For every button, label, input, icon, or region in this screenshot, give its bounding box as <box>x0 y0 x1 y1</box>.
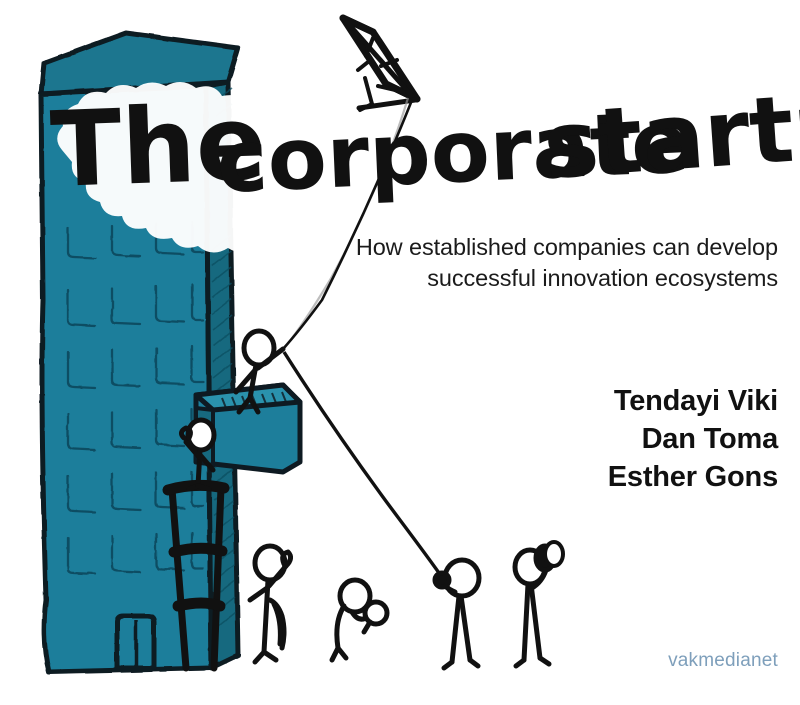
author-list: Tendayi Viki Dan Toma Esther Gons <box>420 382 778 496</box>
kite-reel <box>435 573 449 587</box>
binoculars-figure <box>515 542 563 666</box>
binoculars-icon <box>536 542 563 570</box>
book-subtitle: How established companies can develop su… <box>250 232 778 294</box>
author-name-3: Esther Gons <box>420 458 778 496</box>
book-title: The corporate startup <box>52 86 782 206</box>
title-word-startup: startup <box>540 67 800 200</box>
subtitle-line-2: successful innovation ecosystems <box>250 263 778 294</box>
author-name-1: Tendayi Viki <box>420 382 778 420</box>
publisher-logo[interactable]: vakmedianet <box>600 650 778 672</box>
waving-figure <box>250 546 291 662</box>
kite-pulling-figure <box>435 560 479 668</box>
subtitle-line-1: How established companies can develop <box>250 232 778 263</box>
author-name-2: Dan Toma <box>420 420 778 458</box>
entrance-door[interactable] <box>117 616 154 668</box>
magnifying-glass-figure <box>332 580 387 660</box>
book-cover: The corporate startup How established co… <box>0 0 800 705</box>
